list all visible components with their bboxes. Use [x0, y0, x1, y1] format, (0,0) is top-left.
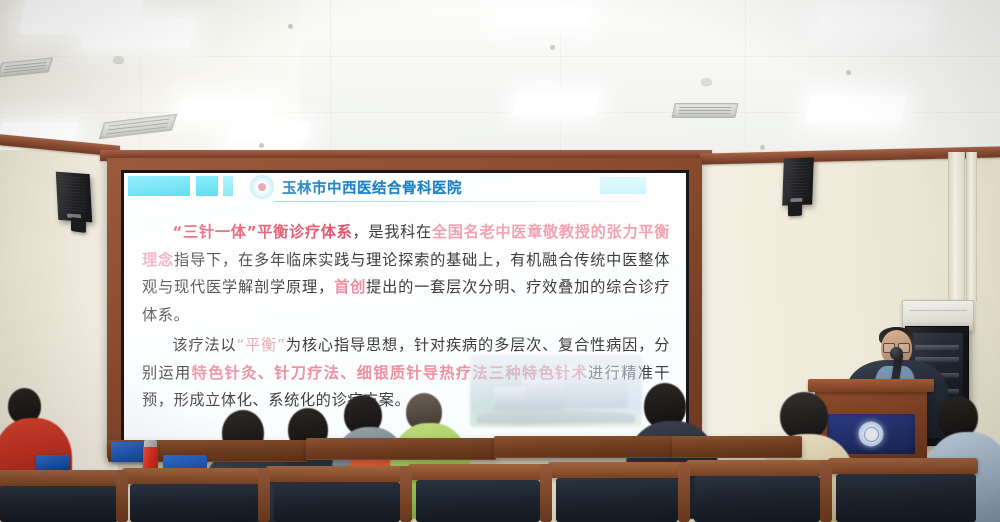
a7-head: [780, 392, 828, 440]
armrest-5: [678, 462, 690, 522]
ceiling-light-2: [82, 18, 197, 48]
seat-cushion-2: [130, 484, 258, 522]
slide-brand-title: 玉林市中西医结合骨科医院: [282, 177, 462, 198]
seat-back-rail-4: [408, 464, 546, 480]
desk-row-back-right: [494, 436, 674, 458]
seat-back-rail-7: [828, 458, 978, 474]
podium-top-surface: [808, 379, 934, 392]
seat-cushion-7: [836, 474, 976, 522]
armrest-6: [820, 460, 832, 522]
thermos-cap: [144, 440, 157, 447]
smoke-detector-left: [113, 56, 124, 63]
ac-vent-center: [671, 103, 738, 118]
header-divider: [274, 201, 642, 202]
wall-pilaster-2: [966, 152, 977, 302]
armrest-2: [258, 468, 270, 522]
slide-text-run: 平衡诊疗体系: [257, 223, 352, 241]
slide-text-run: “三针一体”: [172, 223, 257, 241]
desk-row-back-center: [306, 438, 496, 460]
seat-back-rail-5: [548, 462, 684, 478]
slide-text-run: 首创: [334, 278, 366, 296]
hospital-emblem: [859, 422, 884, 447]
seat-back-rail-1: [0, 470, 122, 486]
armrest-1: [116, 470, 128, 522]
seat-cushion-1: [0, 486, 118, 522]
slide-text-run: “平衡”: [236, 336, 285, 354]
seat-cushion-3: [274, 482, 400, 522]
sprinkler-head-1: [288, 24, 293, 29]
slide-paragraph-1: “三针一体”平衡诊疗体系，是我科在全国名老中医章敬教授的张力平衡理念指导下，在多…: [142, 219, 670, 329]
name-placard-1: [36, 455, 70, 470]
header-block-2: [196, 176, 218, 196]
hospital-building-photo: [470, 355, 642, 427]
seat-cushion-6: [694, 476, 820, 522]
seat-cushion-4: [416, 480, 540, 522]
ceiling-light-6: [512, 92, 600, 116]
header-block-1: [128, 176, 190, 196]
ceiling-light-8: [805, 96, 907, 122]
slide-text-run: ，是我科在: [353, 223, 432, 241]
slide-header: 玉林市中西医结合骨科医院: [124, 173, 686, 204]
smoke-detector-center: [701, 78, 712, 85]
conference-hall-scene: 玉林市中西医结合骨科医院 “三针一体”平衡诊疗体系，是我科在全国名老中医章敬教授…: [0, 0, 1000, 522]
ceiling-light-7: [818, 2, 930, 28]
seat-back-rail-2: [122, 468, 264, 484]
wall-speaker-left: [57, 173, 97, 235]
seat-back-rail-3: [266, 466, 406, 482]
desk-row-back-far-right: [672, 436, 802, 458]
seat-cushion-5: [556, 478, 678, 522]
sprinkler-head-4: [846, 70, 851, 75]
slide-text-run: 该疗法以: [172, 336, 236, 354]
armrest-4: [540, 464, 552, 522]
sprinkler-head-2: [550, 45, 555, 50]
wall-speaker-right: [783, 158, 825, 224]
ceiling-light-5: [496, 0, 593, 26]
sprinkler-head-5: [259, 143, 264, 148]
ceiling-light-9: [227, 122, 311, 142]
hospital-logo-icon: [250, 175, 274, 199]
microphone-icon: [890, 347, 903, 360]
seat-back-rail-6: [686, 460, 826, 476]
armrest-3: [400, 466, 412, 522]
ceiling-light-3: [177, 98, 273, 120]
header-block-4: [600, 177, 646, 194]
header-block-3: [223, 176, 233, 196]
